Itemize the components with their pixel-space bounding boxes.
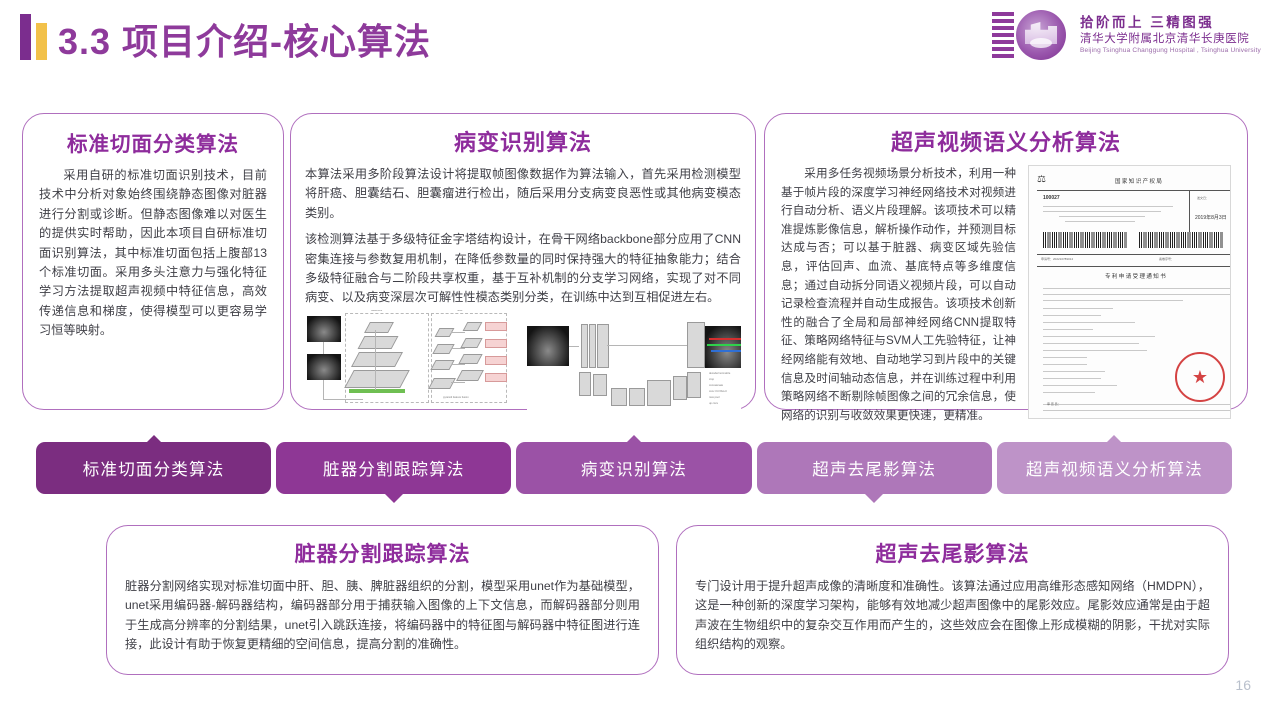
pill-label: 超声视频语义分析算法 [1026,456,1203,480]
card-text-column: 采用多任务视频场景分析技术，利用一种基于帧片段的深度学习神经网络技术对视频进行自… [781,165,1016,425]
accent-bar-purple [20,14,31,60]
pointer-down-icon [385,494,403,503]
card-paragraph: 专门设计用于提升超声成像的清晰度和准确性。该算法通过应用高维形态感知网络（HMD… [695,577,1210,655]
official-seal-icon: ★ [1175,352,1225,402]
patent-date: 2019年8月3日 [1195,214,1227,221]
pill-tail-shadow-removal[interactable]: 超声去尾影算法 [757,442,992,494]
logo-org-en: Beijing Tsinghua Changgung Hospital , Ts… [1080,46,1261,56]
card-title: 超声去尾影算法 [695,542,1210,568]
card-paragraph: 脏器分割网络实现对标准切面中肝、胆、胰、脾脏器组织的分割，模型采用unet作为基… [125,577,640,655]
pill-label: 超声去尾影算法 [812,456,936,480]
page-number: 16 [1235,677,1251,693]
card-body: 采用多任务视频场景分析技术，利用一种基于帧片段的深度学习神经网络技术对视频进行自… [781,165,1016,425]
patent-doc-title: 专利申请受理通知书 [1105,272,1167,280]
patent-app-number: 100027 [1043,195,1060,201]
accent-bar-gold [36,23,47,60]
card-paragraph: 采用自研的标准切面识别技术，目前技术中分析对象始终围绕静态图像对脏器进行分割或诊… [39,166,267,341]
card-body: 脏器分割网络实现对标准切面中肝、胆、胰、脾脏器组织的分割，模型采用unet作为基… [125,577,640,655]
pill-label: 脏器分割跟踪算法 [323,456,465,480]
pointer-down-icon [865,494,883,503]
card-content-row: 采用多任务视频场景分析技术，利用一种基于帧片段的深度学习神经网络技术对视频进行自… [781,165,1231,425]
card-standard-section-classification: 标准切面分类算法 采用自研的标准切面识别技术，目前技术中分析对象始终围绕静态图像… [22,113,284,410]
pill-video-semantic-analysis[interactable]: 超声视频语义分析算法 [997,442,1232,494]
pointer-up-icon [1106,435,1122,443]
pointer-up-icon [146,435,162,443]
card-paragraph: 本算法采用多阶段算法设计将提取帧图像数据作为算法输入，首先采用检测模型将肝癌、胆… [305,165,741,223]
card-organ-segmentation-tracking: 脏器分割跟踪算法 脏器分割网络实现对标准切面中肝、胆、胰、脾脏器组织的分割，模型… [106,525,659,675]
card-lesion-recognition: 病变识别算法 本算法采用多阶段算法设计将提取帧图像数据作为算法输入，首先采用检测… [290,113,756,410]
figure-row: backbone neck pyramid feature fusion [305,310,741,410]
card-tail-shadow-removal: 超声去尾影算法 专门设计用于提升超声成像的清晰度和准确性。该算法通过应用高维形态… [676,525,1229,675]
title-accent-bars [20,14,54,60]
detection-pyramid-diagram: backbone neck pyramid feature fusion [305,310,521,408]
pill-label: 病变识别算法 [581,456,687,480]
pill-standard-section-classification[interactable]: 标准切面分类算法 [36,442,271,494]
pill-organ-segmentation-tracking[interactable]: 脏器分割跟踪算法 [276,442,511,494]
slide-header: 3.3 项目介绍-核心算法 拾阶而上 三精图强 清华大学附属北京清华长庚医院 B… [0,0,1269,78]
logo-slogan: 拾阶而上 三精图强 [1080,15,1261,31]
card-title: 标准切面分类算法 [39,132,267,158]
card-body: 专门设计用于提升超声成像的清晰度和准确性。该算法通过应用高维形态感知网络（HMD… [695,577,1210,655]
card-video-semantic-analysis: 超声视频语义分析算法 采用多任务视频场景分析技术，利用一种基于帧片段的深度学习神… [764,113,1248,410]
algorithm-pipeline-band: 标准切面分类算法 脏器分割跟踪算法 病变识别算法 超声去尾影算法 超声视频语义分… [36,442,1232,494]
pill-label: 标准切面分类算法 [83,456,225,480]
pointer-up-icon [626,435,642,443]
logo-text-block: 拾阶而上 三精图强 清华大学附属北京清华长庚医院 Beijing Tsinghu… [1080,15,1261,56]
card-paragraph: 采用多任务视频场景分析技术，利用一种基于帧片段的深度学习神经网络技术对视频进行自… [781,165,1016,425]
logo-mark-icon [990,9,1076,61]
card-body: 采用自研的标准切面识别技术，目前技术中分析对象始终围绕静态图像对脏器进行分割或诊… [39,166,267,341]
logo-org-cn: 清华大学附属北京清华长庚医院 [1080,31,1261,46]
unet-architecture-diagram: decoder/normalize crop concatenate conv … [527,310,741,410]
patent-notice-document: ⚖ 国家知识产权局 100027 发文日： 2019年8月3日 申请号：2022… [1028,165,1231,419]
card-body: 本算法采用多阶段算法设计将提取帧图像数据作为算法输入，首先采用检测模型将肝癌、胆… [305,165,741,308]
card-title: 病变识别算法 [305,130,741,156]
card-paragraph: 该检测算法基于多级特征金字塔结构设计，在骨干网络backbone部分应用了CNN… [305,230,741,308]
card-title: 超声视频语义分析算法 [781,130,1231,156]
page-title: 3.3 项目介绍-核心算法 [58,13,431,65]
patent-issuer: 国家知识产权局 [1115,177,1163,185]
logo-circle-icon [1016,10,1066,60]
card-title: 脏器分割跟踪算法 [125,542,640,568]
hospital-logo: 拾阶而上 三精图强 清华大学附属北京清华长庚医院 Beijing Tsinghu… [990,8,1261,62]
pill-lesion-recognition[interactable]: 病变识别算法 [516,442,751,494]
logo-ellipse-icon [1030,38,1052,48]
logo-stripes-icon [992,12,1014,58]
